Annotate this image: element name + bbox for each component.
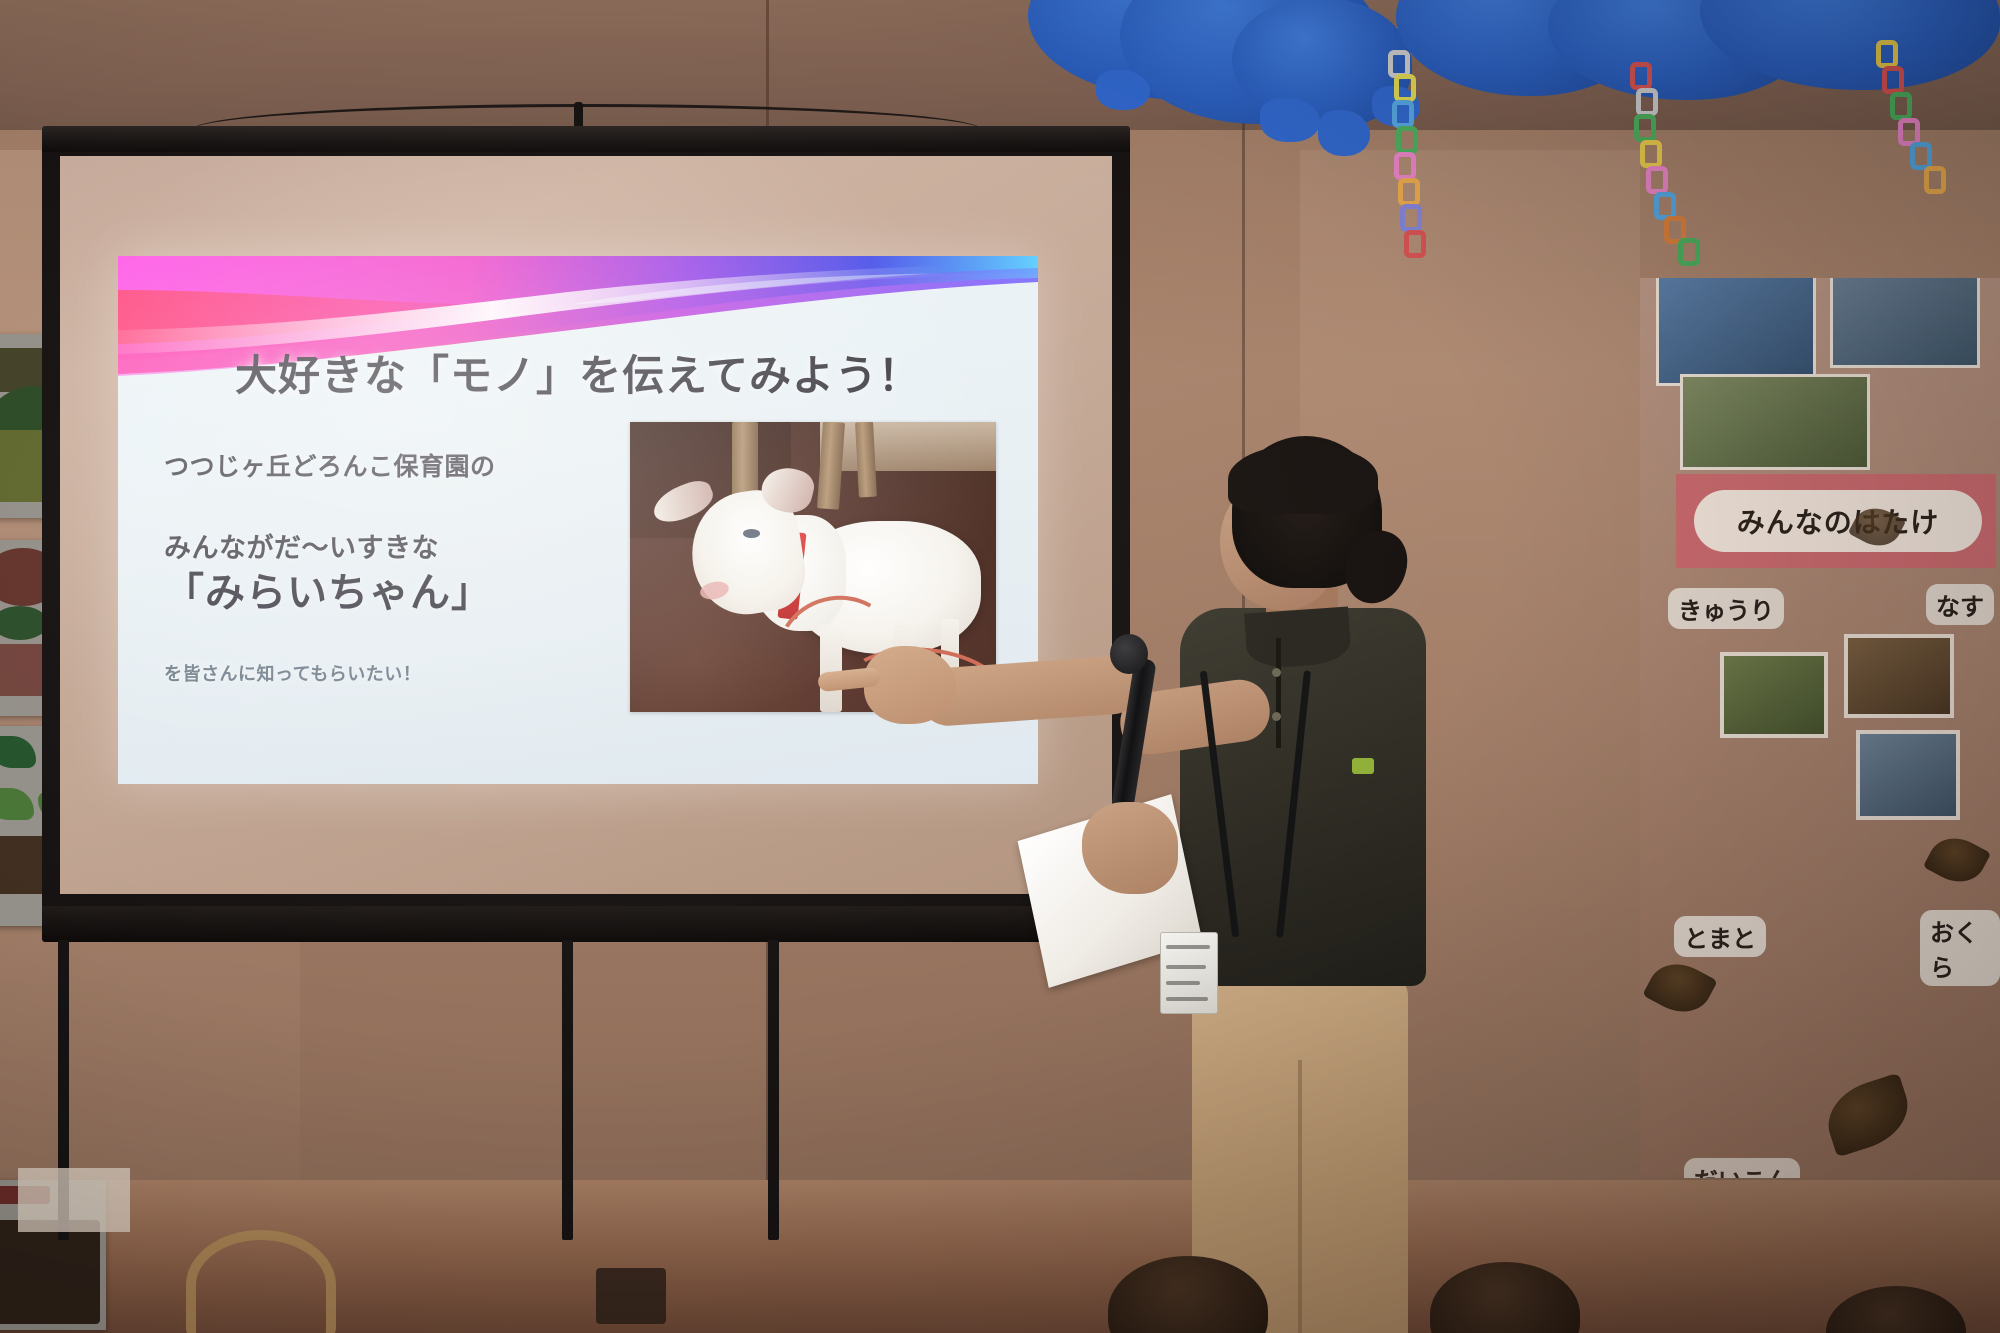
poster-top-artwork bbox=[1656, 278, 1816, 386]
chair bbox=[186, 1230, 336, 1333]
veg-photo-extra bbox=[1856, 730, 1960, 820]
veg-label-tomato: とまと bbox=[1674, 916, 1766, 957]
screen-bottom-bar bbox=[42, 906, 1130, 942]
veg-label-okura: おくら bbox=[1920, 910, 2000, 986]
poster-banner-text: みんなのはたけ bbox=[1737, 501, 1939, 541]
slide-line-1: つつじヶ丘どろんこ保育園の bbox=[164, 452, 544, 482]
poster-top-artwork bbox=[1680, 374, 1870, 470]
leaf-decoration bbox=[1642, 953, 1718, 1024]
slide-line-4: を皆さんに知ってもらいたい！ bbox=[164, 660, 544, 686]
shirt-pocket-logo bbox=[1352, 758, 1374, 774]
slide-line-3: 「みらいちゃん」 bbox=[164, 570, 544, 616]
blue-paper-frill bbox=[1096, 70, 1150, 110]
screen-leg bbox=[562, 940, 573, 1240]
veg-photo-kyuri bbox=[1720, 652, 1828, 738]
poster-banner: みんなのはたけ bbox=[1676, 474, 1996, 568]
slide-body-text: つつじヶ丘どろんこ保育園の みんながだ〜いすきな 「みらいちゃん」 を皆さんに知… bbox=[164, 452, 544, 686]
veg-photo-nasu bbox=[1844, 634, 1954, 718]
presenter-pant-seam bbox=[1298, 1060, 1302, 1333]
veg-label-nasu: なす bbox=[1926, 584, 1994, 625]
ceiling-decorations bbox=[1000, 0, 2000, 280]
goat-eye bbox=[743, 529, 759, 538]
blue-paper-frill bbox=[1318, 110, 1370, 156]
shirt-button bbox=[1272, 668, 1281, 677]
poster-banner-inner: みんなのはたけ bbox=[1694, 490, 1982, 552]
vegetable-garden-poster: みんなのはたけ きゅうり なす とまと おくら だいこん bbox=[1640, 278, 2000, 1178]
presenter bbox=[1060, 420, 1480, 1333]
slide-title: 大好きな「モノ」を伝えてみよう！ bbox=[118, 342, 1038, 403]
blue-paper-frill bbox=[1260, 98, 1320, 142]
presenter-fringe bbox=[1228, 444, 1378, 514]
poster-top-artwork bbox=[1830, 278, 1980, 368]
dark-object bbox=[596, 1268, 666, 1324]
id-badge bbox=[1160, 932, 1218, 1014]
presenter-pointing-hand bbox=[864, 646, 956, 724]
presenter-holding-hand bbox=[1082, 802, 1178, 894]
slide-line-2: みんながだ〜いすきな bbox=[164, 532, 544, 564]
veg-label-kyuri: きゅうり bbox=[1668, 588, 1784, 629]
presenter-placket bbox=[1276, 638, 1281, 748]
leaf-decoration bbox=[1923, 828, 1991, 892]
presentation-room-scene: 大好きな「モノ」を伝えてみよう！ つつじヶ丘どろんこ保育園の みんながだ〜いすき… bbox=[0, 0, 2000, 1333]
microphone-head bbox=[1110, 634, 1148, 674]
floor-paper bbox=[18, 1168, 130, 1232]
screen-leg bbox=[768, 940, 779, 1240]
shirt-button bbox=[1272, 712, 1281, 721]
photo-background-wall bbox=[820, 422, 996, 471]
leaf-decoration bbox=[1818, 1073, 1917, 1158]
veg-label-daikon: だいこん bbox=[1684, 1158, 1800, 1178]
